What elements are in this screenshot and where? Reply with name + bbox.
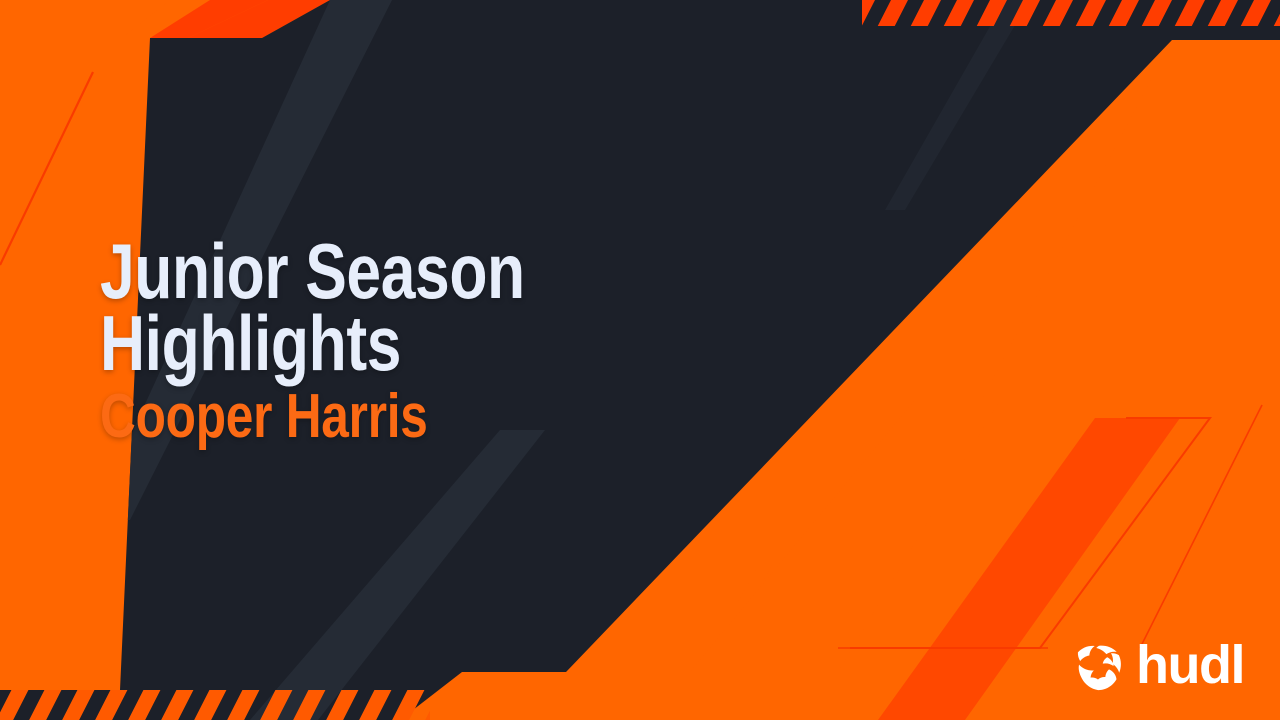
title-block: Junior Season Highlights Cooper Harris (100, 236, 800, 446)
hudl-logo: hudl (1074, 638, 1244, 692)
athlete-name: Cooper Harris (100, 388, 660, 447)
hatch-top-right (862, 0, 1280, 26)
page-title-line-1: Junior Season (100, 236, 660, 308)
page-title-line-2: Highlights (100, 308, 660, 380)
hatch-bottom-left (0, 690, 430, 720)
hudl-shield-icon (1074, 639, 1126, 691)
hudl-wordmark: hudl (1136, 638, 1244, 692)
highlight-title-card: Junior Season Highlights Cooper Harris h… (0, 0, 1280, 720)
